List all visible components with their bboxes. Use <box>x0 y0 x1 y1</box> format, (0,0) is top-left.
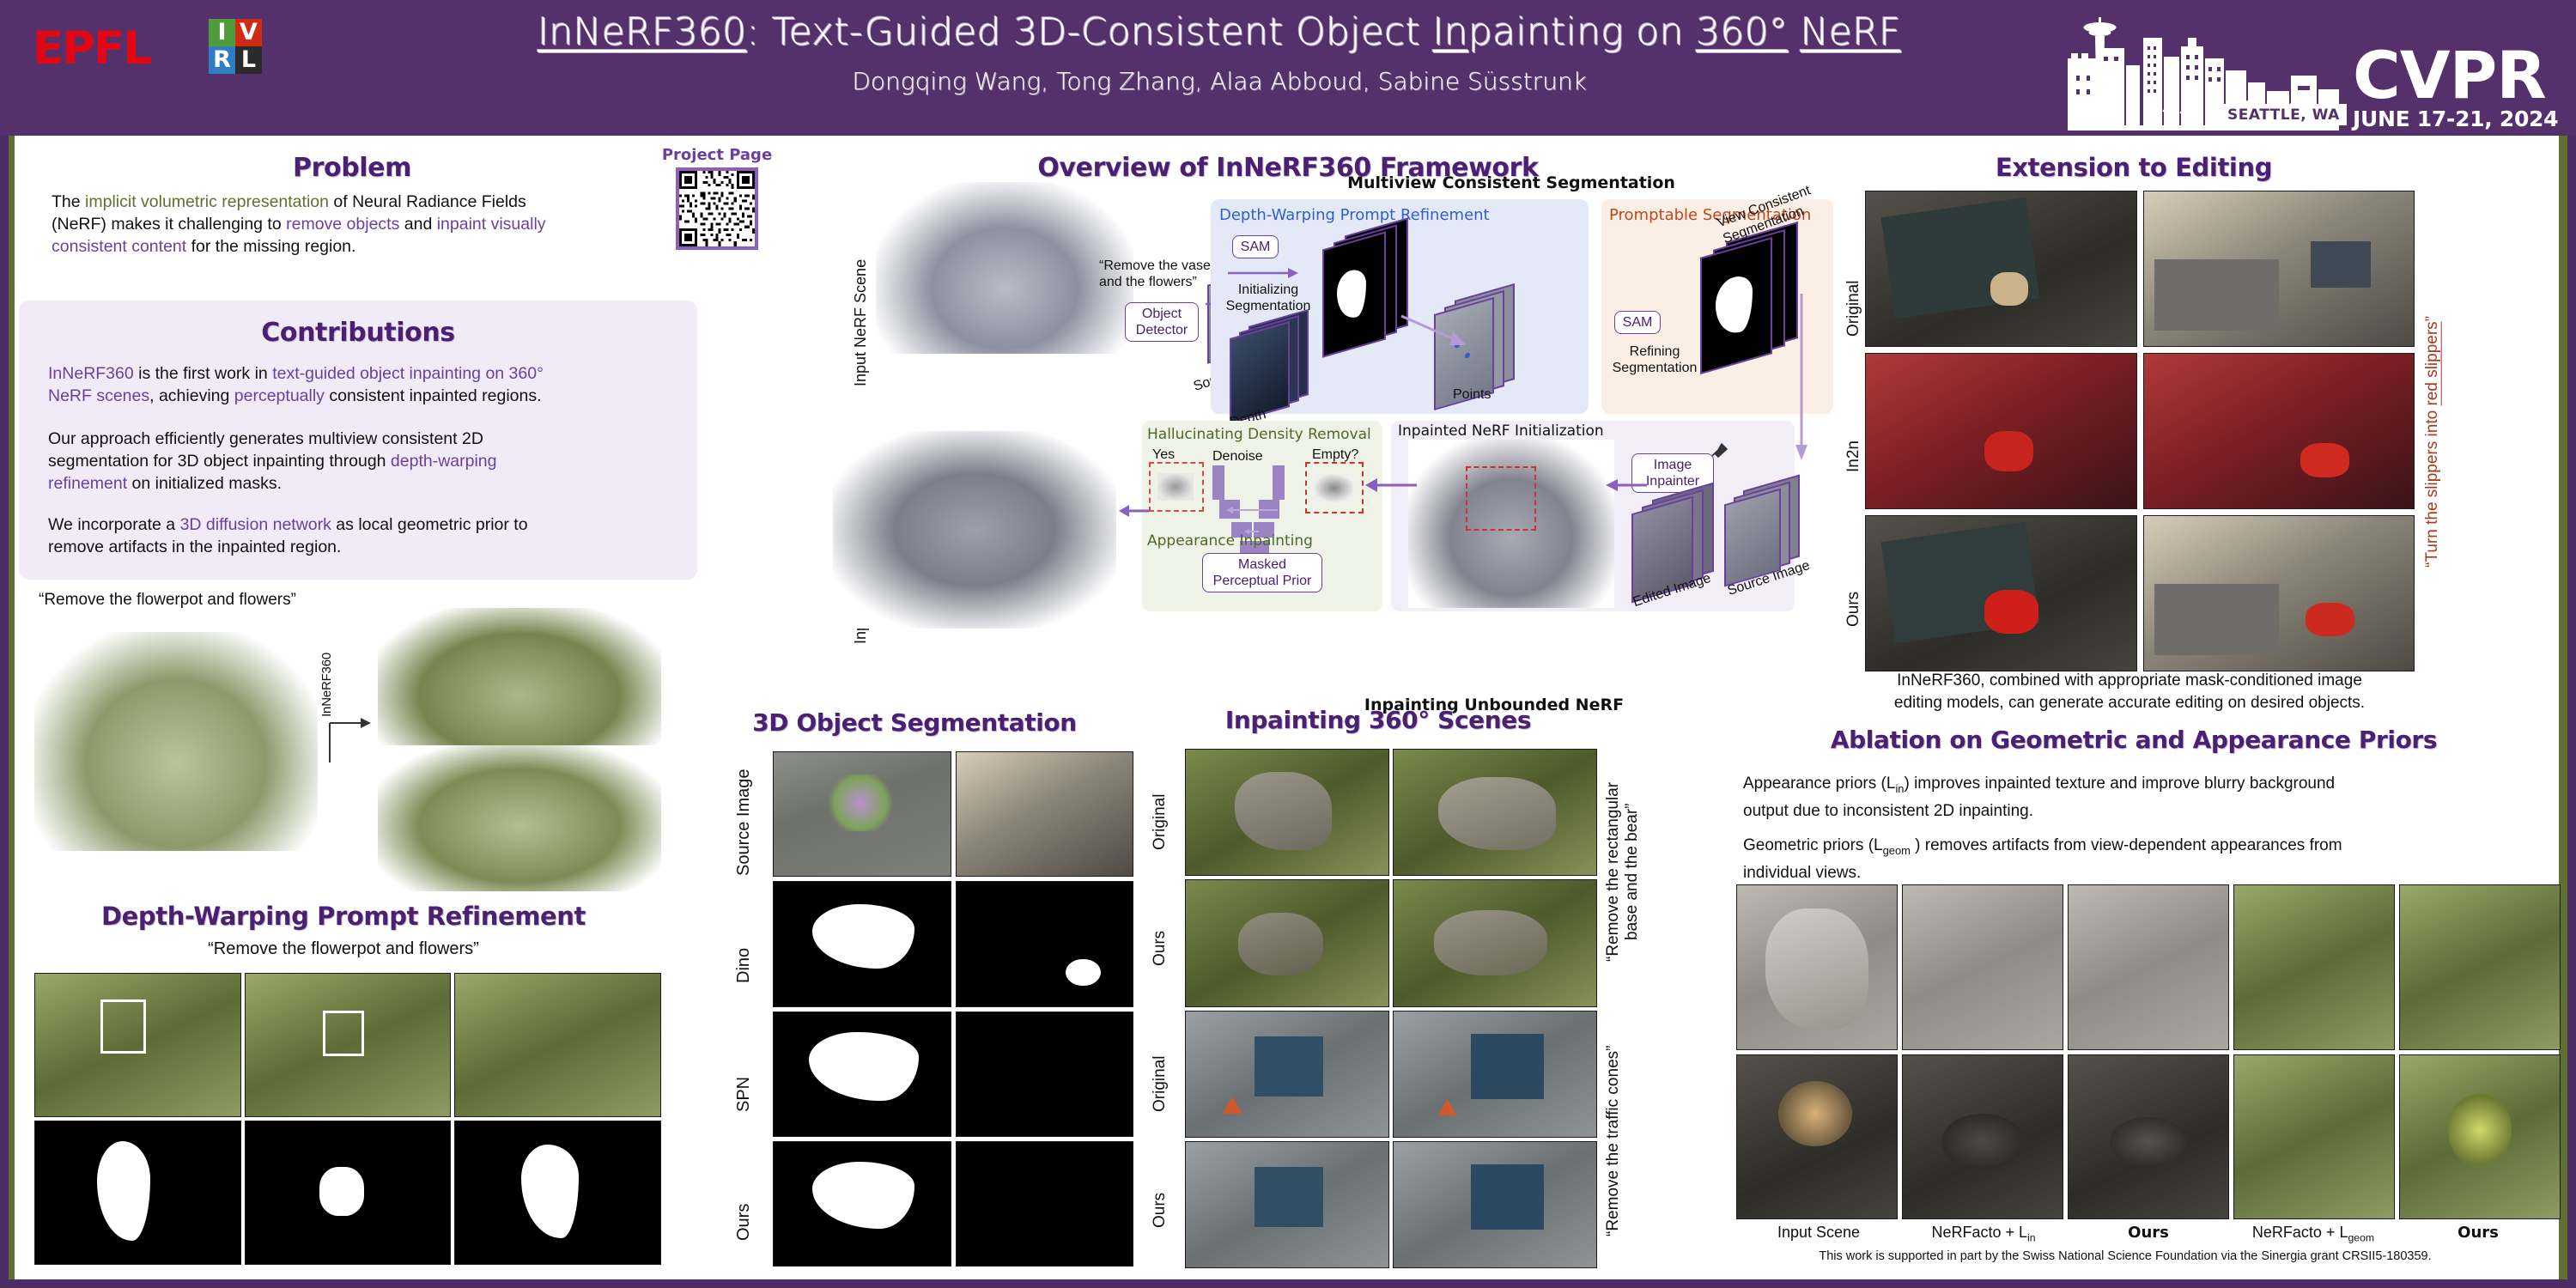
contrib-p1-g: consistent inpainted regions. <box>325 386 542 405</box>
inp-ours-cones-2 <box>1393 1141 1597 1268</box>
ext-in2n-room <box>2143 353 2415 509</box>
ablation-collabel-2: NeRFacto + Lin <box>1901 1224 2066 1246</box>
dw-mask-2 <box>245 1121 452 1265</box>
ablation-paragraph-1: Appearance priors (Lin) improves inpaint… <box>1743 773 2524 823</box>
cvpr-location-label: SEATTLE, WA <box>2221 104 2347 125</box>
extension-caption-l2: editing models, can generate accurate ed… <box>1894 694 2365 712</box>
inpainting-quote-top-l1: “Remove the rectangular <box>1604 781 1622 961</box>
inp-ours-rock-2 <box>1393 879 1597 1006</box>
segmentation-row-label-spn: SPN <box>734 1018 754 1112</box>
problem-purple3: consistent content <box>52 237 186 256</box>
ext-original-room <box>2143 191 2415 347</box>
dw-mask-3 <box>454 1121 661 1265</box>
left-figure-input-render <box>34 632 318 851</box>
left-figure-output-render-top <box>378 608 661 754</box>
dw-image-1 <box>34 973 241 1117</box>
contrib-p1-c: text-guided object inpainting on 360° <box>272 364 544 383</box>
contrib-p1-d: NeRF scenes <box>48 386 149 405</box>
ablation-p1-sub: in <box>1895 782 1904 795</box>
fw-empty-box <box>1305 462 1364 513</box>
extension-side-quote: “Turn the slippers into red slippers” <box>2423 316 2442 568</box>
fw-image-inpainter-label: Image Inpainter <box>1646 458 1699 489</box>
fw-prompt-quote-l1: “Remove the vase <box>1099 258 1211 273</box>
fw-init-seg-label: Initializing Segmentation <box>1221 282 1315 314</box>
fw-arrow-seg-to-inpaint-icon <box>1786 285 1838 465</box>
ablation-collabel-1: Input Scene <box>1736 1224 1901 1246</box>
ivrl-letter-i: I <box>209 19 235 46</box>
project-page-block[interactable]: Project Page <box>661 146 773 250</box>
inpainting-row-label-2: Ours <box>1151 889 1170 966</box>
problem-t2: of Neural Radiance Fields <box>329 192 526 211</box>
fw-refining-seg-label: Refining Segmentation <box>1607 343 1702 376</box>
fw-source-image-stack-2 <box>1724 483 1819 586</box>
fw-arrow-inpainter-to-init-icon <box>1604 474 1652 496</box>
fw-hdr-title: Hallucinating Density Removal <box>1147 426 1381 443</box>
contributions-paragraph-1: InNeRF360 is the first work in text-guid… <box>48 362 675 407</box>
ext-ours-closeup <box>1865 515 2137 671</box>
contrib-p2-d: refinement <box>48 474 127 493</box>
contributions-paragraph-3: We incorporate a 3D diffusion network as… <box>48 513 675 558</box>
ablation-p2-b: ) removes artifacts from view-dependent … <box>1911 836 2342 854</box>
inp-original-rock-1 <box>1185 749 1389 876</box>
ablation-column-labels: Input Scene NeRFacto + Lin Ours NeRFacto… <box>1736 1224 2561 1246</box>
fw-arrow-to-output-icon <box>1118 500 1152 522</box>
inpainting-quote-top: “Remove the rectangular base and the bea… <box>1604 764 1642 979</box>
contributions-card: Contributions InNeRF360 is the first wor… <box>19 301 697 580</box>
ext-in2n-closeup <box>1865 353 2137 509</box>
poster-root: EPFL I V R L InNeRF360: Text-Guided 3D-C… <box>0 0 2576 1288</box>
inp-original-rock-2 <box>1393 749 1597 876</box>
extension-caption-l1: InNeRF360, combined with appropriate mas… <box>1897 671 2362 690</box>
abl-bottom-ours-lin <box>2068 1054 2229 1220</box>
left-accent-bar <box>9 136 15 1279</box>
fw-inpainted-init-title: Inpainted NeRF Initialization <box>1398 422 1759 440</box>
inpainting-row-label-3: Original <box>1151 1018 1170 1112</box>
abl-bottom-nerfacto-lgeom <box>2233 1054 2395 1220</box>
problem-t5: for the missing region. <box>186 237 355 256</box>
abl-bottom-nerfacto-lin <box>1902 1054 2063 1220</box>
left-figure <box>34 608 670 883</box>
fw-refining-l1: Refining <box>1630 344 1680 359</box>
abl-top-ours-lin <box>2068 884 2229 1050</box>
funding-note: This work is supported in part by the Sw… <box>1692 1249 2559 1263</box>
extension-row-label-ours: Ours <box>1844 515 1863 627</box>
ablation-heading: Ablation on Geometric and Appearance Pri… <box>1709 726 2559 754</box>
seg-ours-right <box>956 1141 1134 1267</box>
ablation-p2-sub: geom <box>1883 844 1911 857</box>
epfl-logo: EPFL I V R L <box>33 19 264 76</box>
ablation-collabel-3: Ours <box>2066 1224 2231 1246</box>
fw-yes-label: Yes <box>1152 447 1175 463</box>
contrib-p2-b: segmentation for 3D object inpainting th… <box>48 452 391 471</box>
contrib-p2-a: Our approach efficiently generates multi… <box>48 429 483 448</box>
seg-dino-left <box>773 881 951 1006</box>
contributions-heading: Contributions <box>19 318 697 348</box>
title-run-0: InNeRF360 <box>538 10 746 54</box>
inp-original-cones-1 <box>1185 1011 1389 1138</box>
problem-purple2: inpaint visually <box>437 215 546 234</box>
problem-t1: The <box>52 192 85 211</box>
dw-mask-1 <box>34 1121 241 1265</box>
fw-empty-label: Empty? <box>1312 447 1358 463</box>
ablation-collabel-5: Ours <box>2396 1224 2561 1246</box>
ivrl-letter-r: R <box>209 46 235 74</box>
inp-ours-rock-1 <box>1185 879 1389 1006</box>
abl-top-nerfacto-lin <box>1902 884 2063 1050</box>
left-figure-arrow-label: InNeRF360 <box>319 653 342 717</box>
fw-prompt-quote-l2: and the flowers” <box>1099 275 1197 289</box>
fw-init-seg-l1: Initializing <box>1238 283 1298 297</box>
seg-dino-right <box>956 881 1134 1006</box>
project-page-label: Project Page <box>661 146 773 164</box>
fw-arrow-empty-to-init-icon <box>1364 472 1424 498</box>
title-run-5 <box>1788 10 1800 54</box>
seg-ours-left <box>773 1141 951 1267</box>
fw-sam-pill-2: SAM <box>1614 311 1661 334</box>
cvpr-dates: JUNE 17-21, 2024 <box>2353 106 2558 131</box>
contrib-p1-b: is the first work in <box>134 364 272 383</box>
left-figure-quote: “Remove the flowerpot and flowers” <box>39 591 571 610</box>
contrib-p2-c: depth-warping <box>391 452 497 471</box>
fw-object-detector-pill: Object Detector <box>1125 302 1199 342</box>
title-run-2: In <box>1433 10 1468 54</box>
title-run-1: : Text-Guided 3D-Consistent Object <box>747 10 1433 54</box>
title-block: InNeRF360: Text-Guided 3D-Consistent Obj… <box>404 9 2035 95</box>
contrib-p1-a: InNeRF360 <box>48 364 134 383</box>
fw-inpainted-init-render <box>1408 440 1614 608</box>
ivrl-letter-l: L <box>235 46 262 74</box>
fw-mpp-label: Masked Perceptual Prior <box>1213 557 1312 588</box>
fw-mvcs-title: Multiview Consistent Segmentation <box>1288 173 1735 192</box>
ablation-p2-a: Geometric priors (L <box>1743 836 1883 854</box>
problem-t3: (NeRF) makes it challenging to <box>52 215 286 234</box>
extension-side-quote-post: ” <box>2423 316 2441 321</box>
extension-side-quote-pre: “Turn the slippers into <box>2423 406 2441 568</box>
author-list: Dongqing Wang, Tong Zhang, Alaa Abboud, … <box>404 67 2035 95</box>
fw-output-nerf-render <box>833 431 1116 629</box>
depth-warping-heading: Depth-Warping Prompt Refinement <box>17 902 670 931</box>
extension-grid <box>1865 191 2415 671</box>
abl-top-nerfacto-lgeom <box>2233 884 2395 1050</box>
left-figure-arrow-icon <box>326 711 374 771</box>
epfl-wordmark: EPFL <box>33 22 150 75</box>
abl-top-input-scene <box>1736 884 1898 1050</box>
dw-image-2 <box>245 973 452 1117</box>
abl-bottom-ours-lgeom <box>2399 1054 2561 1220</box>
cvpr-badge: SEATTLE, WA CVPR JUNE 17-21, 2024 <box>2061 5 2567 131</box>
framework-diagram: “Remove the vase and the flowers” Object… <box>841 182 1949 697</box>
contrib-p3-c: as local geometric prior to <box>331 515 528 534</box>
problem-green1: implicit volumetric representation <box>85 192 329 211</box>
problem-heading: Problem <box>52 153 653 183</box>
ablation-p1-a: Appearance priors (L <box>1743 775 1895 793</box>
fw-arrow-sam-icon <box>1226 264 1300 282</box>
ext-ours-room <box>2143 515 2415 671</box>
title-run-6: NeRF <box>1801 10 1901 54</box>
segmentation-grid <box>773 751 1133 1267</box>
fw-input-nerf-render <box>876 182 1133 354</box>
ablation-paragraph-2: Geometric priors (Lgeom ) removes artifa… <box>1743 835 2524 884</box>
fw-refining-l2: Segmentation <box>1613 361 1698 375</box>
fw-denoise-label: Denoise <box>1212 448 1263 465</box>
poster-title: InNeRF360: Text-Guided 3D-Consistent Obj… <box>404 9 2035 57</box>
contrib-p3-a: We incorporate a <box>48 515 180 534</box>
problem-t4: and <box>399 215 436 234</box>
inpainting-quote-bottom: “Remove the traffic cones” <box>1604 1022 1623 1236</box>
ablation-p1-b: ) improves inpainted texture and improve… <box>1904 775 2335 793</box>
contrib-p1-f: perceptually <box>234 386 325 405</box>
segmentation-row-label-ours: Ours <box>734 1146 754 1241</box>
inpainting-quote-top-l2: base and the bear” <box>1623 803 1641 940</box>
ivrl-logo: I V R L <box>209 19 262 74</box>
ivrl-letter-v: V <box>235 19 262 46</box>
abl-top-ours-lgeom <box>2399 884 2561 1050</box>
left-figure-output-render-bottom <box>378 745 661 891</box>
paintbrush-icon <box>1710 437 1732 459</box>
cvpr-acronym: CVPR <box>2353 43 2546 108</box>
depth-warping-quote: “Remove the flowerpot and flowers” <box>17 939 670 959</box>
ablation-p1-c: output due to inconsistent 2D inpainting… <box>1743 802 2033 820</box>
extension-side-quote-highlight: red slippers <box>2423 321 2441 405</box>
seg-spn-left <box>773 1012 951 1137</box>
extension-row-label-original: Original <box>1844 199 1863 337</box>
contrib-p3-d: remove artifacts in the inpainted region… <box>48 538 341 556</box>
poster-header: EPFL I V R L InNeRF360: Text-Guided 3D-C… <box>0 0 2576 136</box>
contrib-p1-e: , achieving <box>149 386 234 405</box>
inp-original-cones-2 <box>1393 1011 1597 1138</box>
seg-source-right <box>956 751 1134 877</box>
extension-caption: InNeRF360, combined with appropriate mas… <box>1829 670 2430 714</box>
contrib-p3-b: 3D diffusion network <box>180 515 331 534</box>
problem-purple1: remove objects <box>286 215 399 234</box>
inpainting-heading: Inpainting 360° Scenes <box>1151 706 1606 734</box>
fw-arrow-mask-to-points-icon <box>1400 311 1477 352</box>
ext-original-closeup <box>1865 191 2137 347</box>
segmentation-row-label-dino: Dino <box>734 889 754 983</box>
fw-points-label: Points <box>1453 386 1491 403</box>
depth-warping-grid <box>34 973 661 1265</box>
contrib-p2-e: on initialized masks. <box>127 474 282 493</box>
inp-ours-cones-1 <box>1185 1141 1389 1268</box>
extension-row-label-in2n: In2n <box>1844 361 1863 472</box>
fw-masked-perceptual-prior-pill: Masked Perceptual Prior <box>1202 553 1322 592</box>
contributions-paragraph-2: Our approach efficiently generates multi… <box>48 428 675 495</box>
inpainting-grid <box>1185 749 1597 1268</box>
fw-sam-pill-1: SAM <box>1232 235 1279 258</box>
inpainting-row-label-4: Ours <box>1151 1151 1170 1228</box>
fw-object-detector-label: Object Detector <box>1136 307 1188 337</box>
ablation-p2-c: individual views. <box>1743 864 1861 882</box>
extension-heading: Extension to Editing <box>1709 153 2559 182</box>
ablation-grid <box>1736 884 2561 1219</box>
problem-paragraph: The implicit volumetric representation o… <box>52 191 653 258</box>
fw-yes-box <box>1149 462 1204 512</box>
inpainting-row-label-1: Original <box>1151 756 1170 850</box>
title-run-4: 360° <box>1696 10 1788 54</box>
segmentation-heading: 3D Object Segmentation <box>721 708 1108 737</box>
abl-bottom-input-scene <box>1736 1054 1898 1220</box>
seg-source-left <box>773 751 951 877</box>
dw-image-3 <box>454 973 661 1117</box>
ablation-collabel-4: NeRFacto + Lgeom <box>2231 1224 2396 1246</box>
qr-code-icon[interactable] <box>676 167 758 250</box>
fw-appearance-inpainting-title: Appearance Inpainting <box>1147 532 1381 550</box>
seg-spn-right <box>956 1012 1134 1137</box>
title-run-3: painting on <box>1468 10 1696 54</box>
segmentation-row-label-source: Source Image <box>734 756 754 876</box>
